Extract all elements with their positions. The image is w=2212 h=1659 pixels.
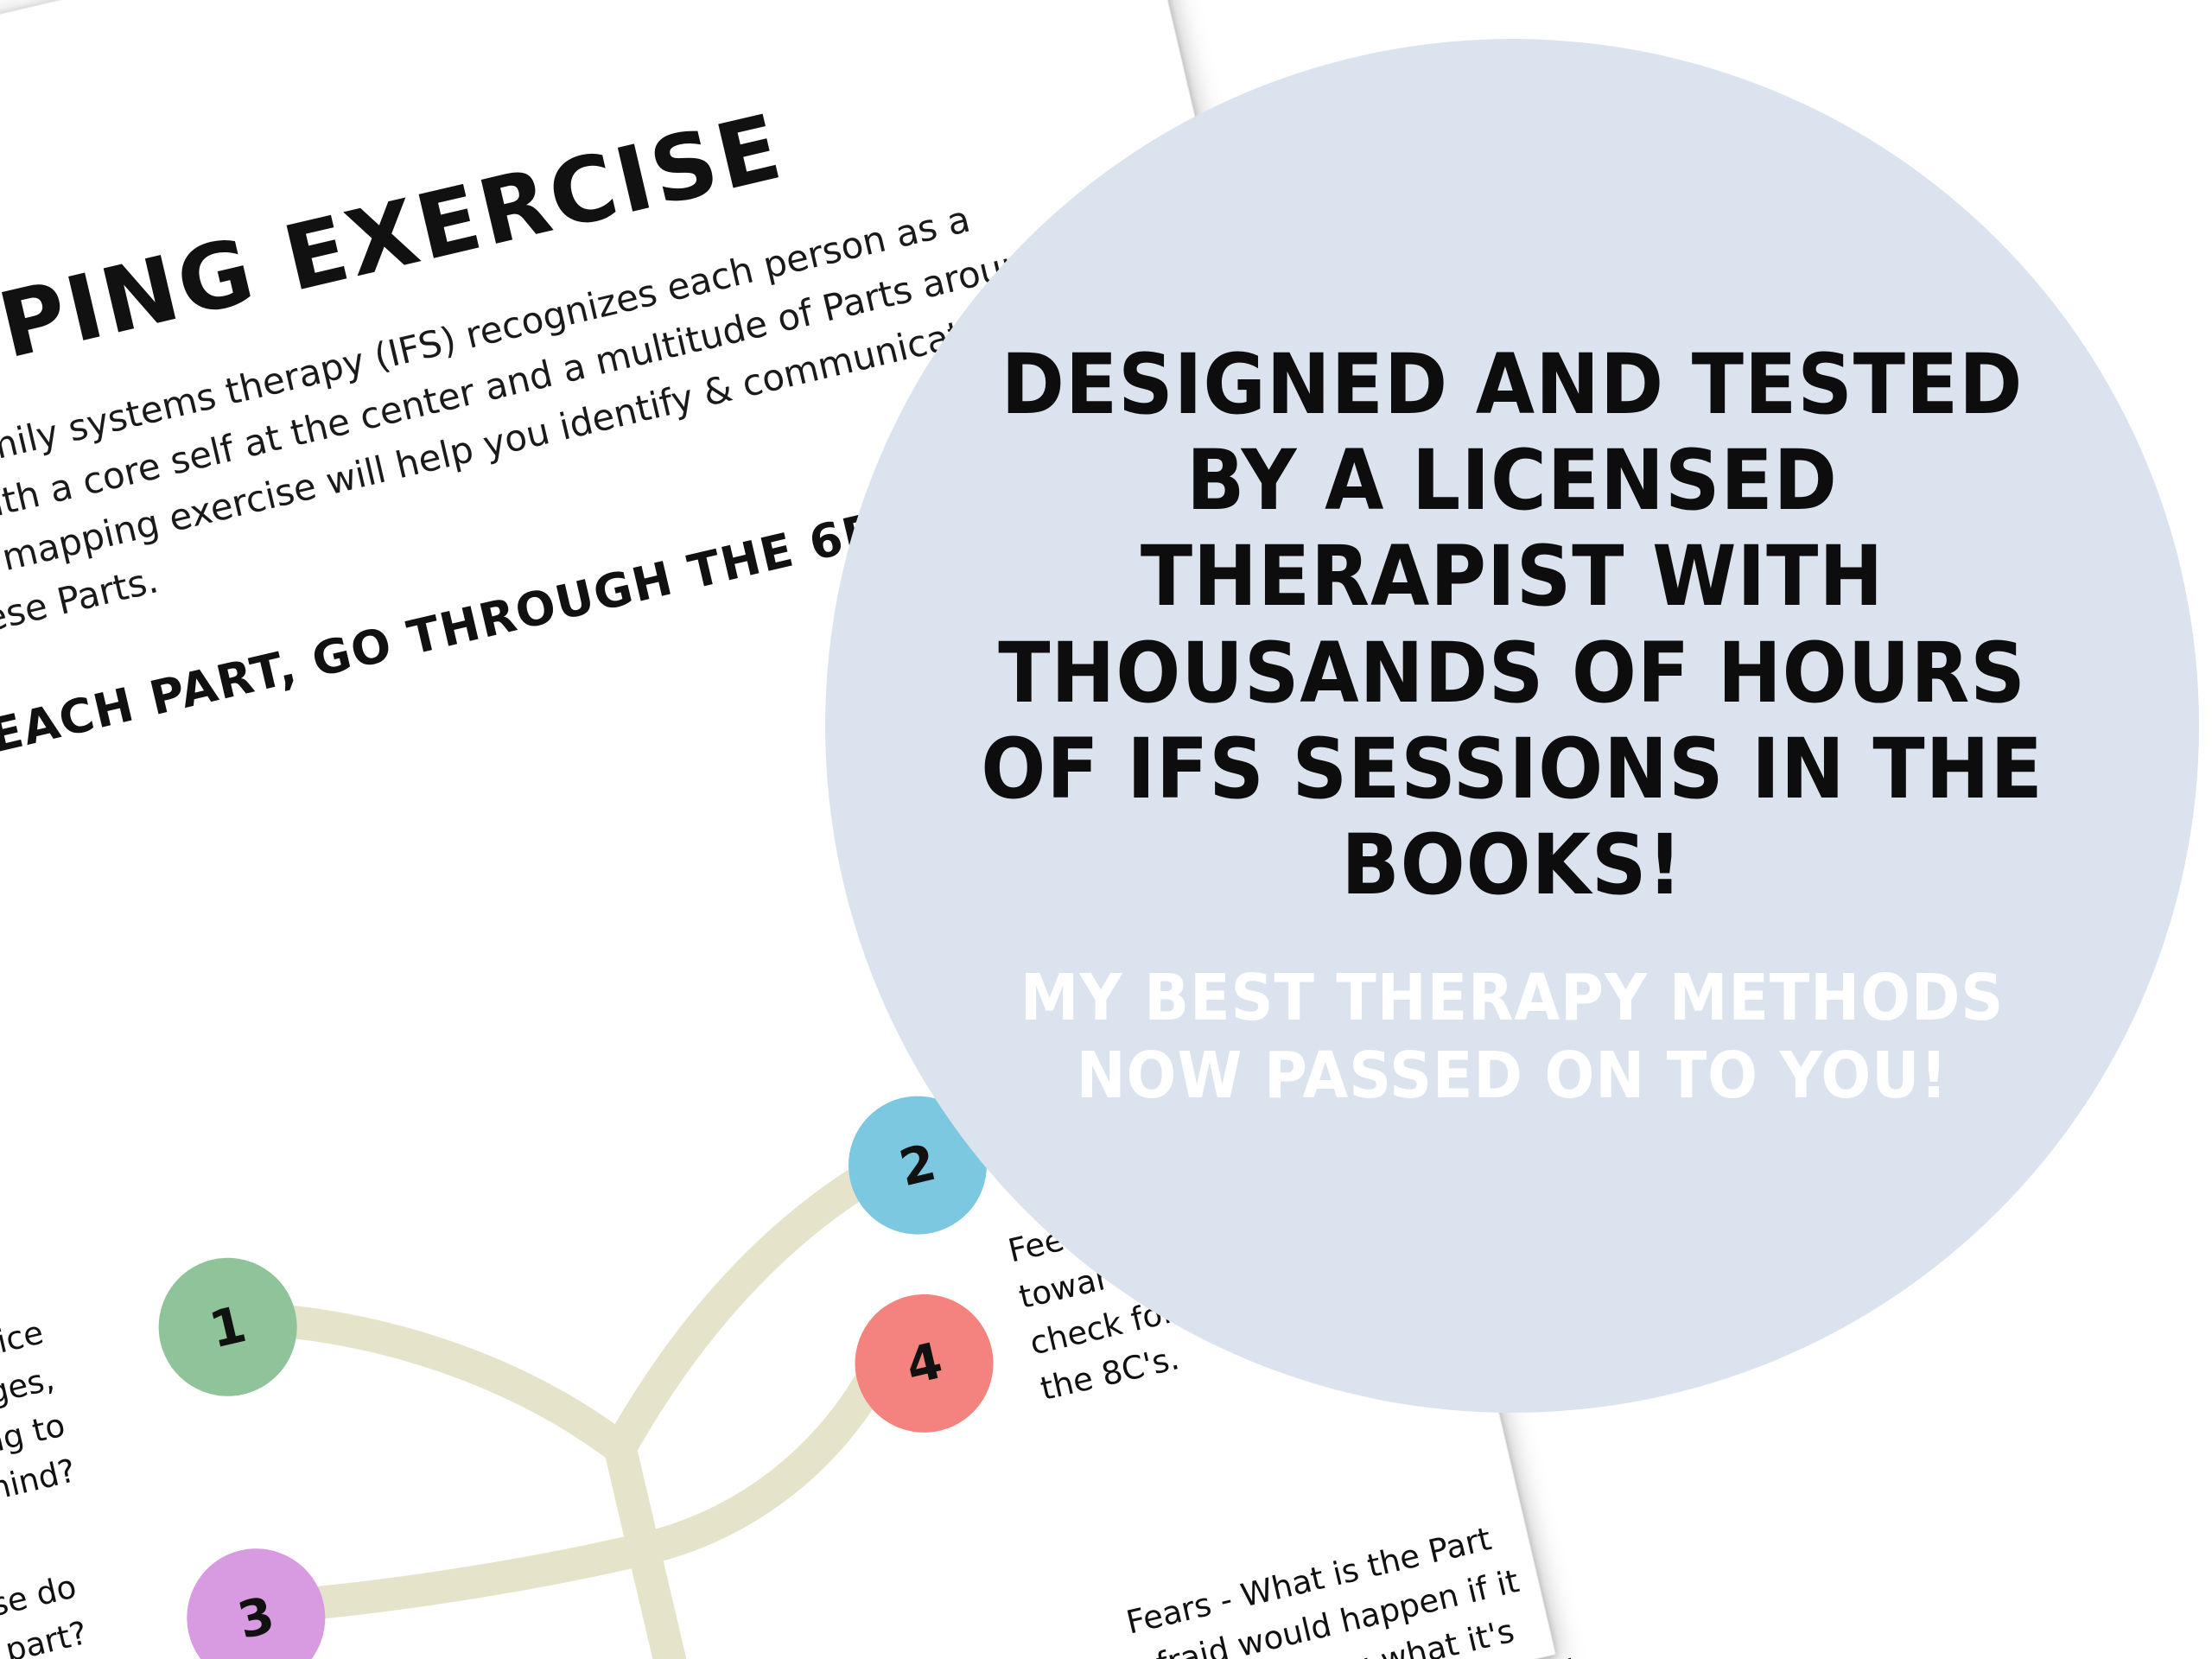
promo-badge: DESIGNED AND TESTED BY A LICENSED THERAP… [825, 39, 2199, 1413]
badge-headline: DESIGNED AND TESTED BY A LICENSED THERAP… [976, 337, 2049, 914]
screenshot-canvas: MAPPING EXERCISE Internal family systems… [0, 0, 2212, 1659]
node-number-3: 3 [232, 1586, 280, 1650]
node-number-1: 1 [204, 1294, 251, 1359]
node-number-2: 2 [894, 1133, 942, 1198]
badge-subline: MY BEST THERAPY METHODS NOW PASSED ON TO… [976, 959, 2049, 1116]
node-number-4: 4 [900, 1331, 948, 1395]
